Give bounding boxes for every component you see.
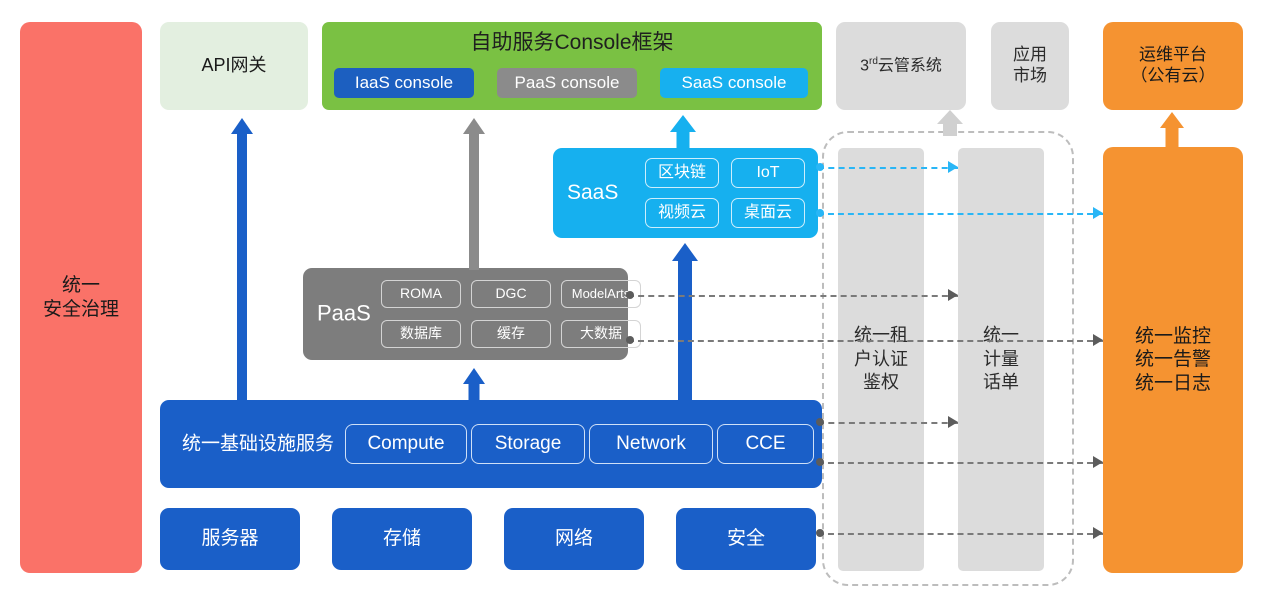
connector-paas-to-ops [628,340,1103,342]
arrow-iaas-to-saas [670,243,700,401]
arrow-iaas-to-api-gateway [228,118,256,402]
ops-monitoring-column: 统一监控 统一告警 统一日志 [1103,147,1243,573]
arrow-shared-to-third-cloud [936,110,964,136]
arrow-saas-to-console [668,115,698,150]
connector-saas-to-ops [818,213,1103,215]
connector-arrowhead [948,161,958,173]
iaas-chip-cce[interactable]: CCE [717,424,814,464]
connector-iaas-to-ops [818,462,1103,464]
paas-block: PaaS ROMA DGC ModelArts 数据库 缓存 大数据 [303,268,628,360]
connector-arrowhead [1093,334,1103,346]
api-gateway-label: API网关 [201,55,266,77]
paas-label: PaaS [317,301,371,328]
saas-label: SaaS [567,180,618,206]
arrow-ops-column-to-ops-platform [1158,112,1186,148]
connector-dot [816,529,824,537]
ordinal-superscript: rd [869,56,878,67]
connector-arrowhead [1093,456,1103,468]
iaas-console-chip[interactable]: IaaS console [334,68,474,98]
paas-console-chip[interactable]: PaaS console [497,68,637,98]
iaas-label: 统一基础设施服务 [182,432,334,455]
ops-monitoring-label: 统一监控 统一告警 统一日志 [1135,325,1211,395]
connector-saas-to-metering [818,167,958,169]
connector-dot [816,209,824,217]
saas-chip-video-cloud[interactable]: 视频云 [645,198,719,228]
connector-arrowhead [948,289,958,301]
connector-dot [816,418,824,426]
connector-dot [626,291,634,299]
console-framework-title: 自助服务Console框架 [322,30,822,56]
iaas-chip-network[interactable]: Network [589,424,713,464]
connector-dot [816,458,824,466]
app-market-block: 应用 市场 [991,22,1069,110]
saas-chip-iot[interactable]: IoT [731,158,805,188]
paas-chip-dgc[interactable]: DGC [471,280,551,308]
unified-tenant-auth-column: 统一租 户认证 鉴权 [838,148,924,571]
api-gateway-block: API网关 [160,22,308,110]
saas-block: SaaS 区块链 IoT 视频云 桌面云 [553,148,818,238]
infra-box-server: 服务器 [160,508,300,570]
unified-tenant-auth-label: 统一租 户认证 鉴权 [854,324,908,394]
console-framework-block: 自助服务Console框架 IaaS console PaaS console … [322,22,822,110]
app-market-label: 应用 市场 [1013,45,1047,86]
security-governance-label: 统一 安全治理 [43,274,119,320]
architecture-diagram: 统一 安全治理 API网关 自助服务Console框架 IaaS console… [0,0,1265,605]
connector-arrowhead [1093,527,1103,539]
iaas-block: 统一基础设施服务 Compute Storage Network CCE [160,400,822,488]
iaas-chip-compute[interactable]: Compute [345,424,467,464]
unified-metering-billing-label: 统一 计量 话单 [983,324,1019,394]
third-party-cloud-management-block: 3rd云管系统 [836,22,966,110]
infra-box-security: 安全 [676,508,816,570]
connector-dot [816,163,824,171]
ops-platform-label: 运维平台 （公有云） [1131,45,1216,86]
arrow-iaas-to-paas [460,368,488,402]
connector-paas-to-auth [628,295,958,297]
connector-dot [626,336,634,344]
third-party-cloud-label: 3rd云管系统 [860,56,942,76]
saas-chip-desktop-cloud[interactable]: 桌面云 [731,198,805,228]
saas-chip-blockchain[interactable]: 区块链 [645,158,719,188]
ops-platform-public-cloud-block: 运维平台 （公有云） [1103,22,1243,110]
unified-metering-billing-column: 统一 计量 话单 [958,148,1044,571]
connector-arrowhead [948,416,958,428]
arrow-paas-to-console [460,118,488,270]
connector-arrowhead [1093,207,1103,219]
connector-iaas-to-auth [818,422,958,424]
saas-console-chip[interactable]: SaaS console [660,68,808,98]
connector-infra-to-ops [818,533,1103,535]
infra-box-storage: 存储 [332,508,472,570]
infra-box-network: 网络 [504,508,644,570]
paas-chip-cache[interactable]: 缓存 [471,320,551,348]
paas-chip-database[interactable]: 数据库 [381,320,461,348]
security-governance-block: 统一 安全治理 [20,22,142,573]
iaas-chip-storage[interactable]: Storage [471,424,585,464]
paas-chip-roma[interactable]: ROMA [381,280,461,308]
